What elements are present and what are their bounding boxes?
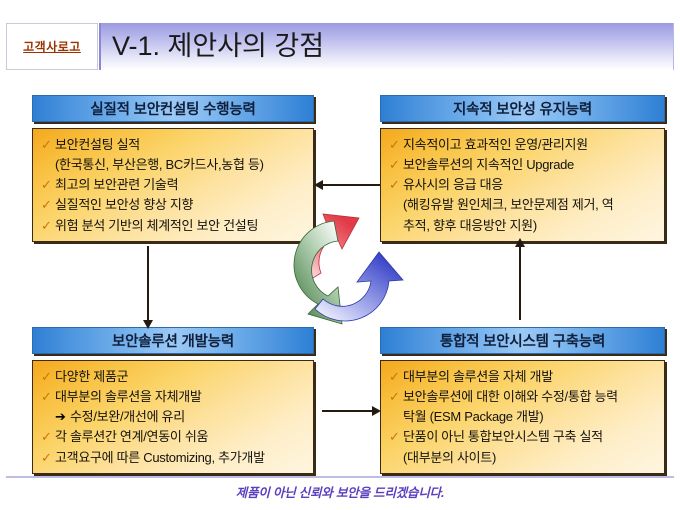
footer-divider — [6, 476, 674, 478]
connector-line — [519, 246, 521, 320]
bullet-text: 보안솔루션에 대한 이해와 수정/통합 능력 — [403, 388, 658, 405]
bullet-text: 유사시의 응급 대응 — [403, 176, 658, 193]
bullet-item-sub: ➔ 수정/보완/개선에 유리 — [41, 408, 307, 425]
arrow-right-icon: ➔ — [55, 408, 70, 425]
bullet-spacer — [41, 156, 55, 173]
bullet-text: (해킹유발 원인체크, 보안문제점 제거, 역 — [403, 196, 658, 213]
bullet-text: 수정/보완/개선에 유리 — [70, 408, 307, 425]
check-icon: ✓ — [41, 449, 55, 466]
capability-panel-bottom-left: 보안솔루션 개발능력 ✓ 다양한 제품군 ✓ 대부분의 솔루션을 자체개발 ➔ … — [32, 327, 314, 474]
bullet-item: ✓ 대부분의 솔루션을 자체개발 — [41, 388, 307, 405]
arrowhead-right-icon — [372, 406, 381, 416]
bullet-item: ✓ 보안솔루션의 지속적인 Upgrade — [389, 156, 658, 173]
bullet-text: 지속적이고 효과적인 운영/관리지원 — [403, 136, 658, 153]
arrowhead-left-icon — [314, 180, 323, 190]
check-icon: ✓ — [389, 388, 403, 405]
bullet-spacer — [389, 408, 403, 425]
bullet-text: 단품이 아닌 통합보안시스템 구축 실적 — [403, 428, 658, 445]
check-icon: ✓ — [41, 196, 55, 213]
bullet-item: ✓ 실질적인 보안성 향상 지향 — [41, 196, 307, 213]
title-plate: V-1. 제안사의 강점 — [99, 23, 674, 70]
panel-title: 보안솔루션 개발능력 — [112, 330, 234, 351]
bullet-text: 추적, 향후 대응방안 지원) — [403, 217, 658, 234]
bullet-item: ✓ 각 솔루션간 연계/연동이 쉬움 — [41, 428, 307, 445]
panel-header-top-right: 지속적 보안성 유지능력 — [380, 95, 665, 122]
footer-tagline: 제품이 아닌 신뢰와 보안을 드리겠습니다. — [0, 482, 680, 501]
check-icon: ✓ — [389, 368, 403, 385]
connector-line — [147, 246, 149, 320]
bullet-item: ✓ 보안컨설팅 실적 — [41, 136, 307, 153]
capability-panel-bottom-right: 통합적 보안시스템 구축능력 ✓ 대부분의 솔루션을 자체 개발 ✓ 보안솔루션… — [380, 327, 665, 474]
bullet-item: (해킹유발 원인체크, 보안문제점 제거, 역 — [389, 196, 658, 213]
bullet-item: ✓ 지속적이고 효과적인 운영/관리지원 — [389, 136, 658, 153]
check-icon: ✓ — [389, 156, 403, 173]
bullet-item: (대부분의 사이트) — [389, 449, 658, 466]
check-icon: ✓ — [41, 388, 55, 405]
bullet-text: 대부분의 솔루션을 자체 개발 — [403, 368, 658, 385]
bullet-item: ✓ 최고의 보안관련 기술력 — [41, 176, 307, 193]
bullet-text: 각 솔루션간 연계/연동이 쉬움 — [55, 428, 307, 445]
bullet-item: ✓ 단품이 아닌 통합보안시스템 구축 실적 — [389, 428, 658, 445]
check-icon: ✓ — [41, 428, 55, 445]
client-logo-placeholder: 고객사로고 — [6, 23, 98, 70]
connector-line — [322, 410, 372, 412]
bullet-text: 보안솔루션의 지속적인 Upgrade — [403, 156, 658, 173]
bullet-text: 다양한 제품군 — [55, 368, 307, 385]
check-icon: ✓ — [41, 217, 55, 234]
page-title: V-1. 제안사의 강점 — [101, 33, 324, 60]
client-logo-text: 고객사로고 — [23, 38, 81, 55]
check-icon: ✓ — [389, 136, 403, 153]
panel-title: 지속적 보안성 유지능력 — [453, 98, 592, 119]
arrowhead-down-icon — [143, 320, 153, 329]
check-icon: ✓ — [389, 176, 403, 193]
panel-title: 실질적 보안컨설팅 수행능력 — [90, 98, 255, 119]
bullet-text: 실질적인 보안성 향상 지향 — [55, 196, 307, 213]
bullet-item: (한국통신, 부산은행, BC카드사,농협 등) — [41, 156, 307, 173]
bullet-text: 고객요구에 따른 Customizing, 추가개발 — [55, 449, 307, 466]
check-icon: ✓ — [41, 368, 55, 385]
capability-panel-top-right: 지속적 보안성 유지능력 ✓ 지속적이고 효과적인 운영/관리지원 ✓ 보안솔루… — [380, 95, 665, 242]
panel-title: 통합적 보안시스템 구축능력 — [440, 330, 605, 351]
synergy-cycle-diagram — [272, 197, 412, 337]
cycle-arrow-blue — [315, 252, 403, 321]
bullet-item: ✓ 유사시의 응급 대응 — [389, 176, 658, 193]
bullet-text: (대부분의 사이트) — [403, 449, 658, 466]
bullet-item: ✓ 보안솔루션에 대한 이해와 수정/통합 능력 — [389, 388, 658, 405]
slide-title-bar: 고객사로고 V-1. 제안사의 강점 — [0, 23, 680, 70]
bullet-item: 탁월 (ESM Package 개발) — [389, 408, 658, 425]
check-icon: ✓ — [41, 136, 55, 153]
bullet-text: 대부분의 솔루션을 자체개발 — [55, 388, 307, 405]
cycle-svg — [272, 197, 412, 337]
bullet-text: 최고의 보안관련 기술력 — [55, 176, 307, 193]
panel-body-bottom-right: ✓ 대부분의 솔루션을 자체 개발 ✓ 보안솔루션에 대한 이해와 수정/통합 … — [380, 360, 665, 474]
panel-header-bottom-right: 통합적 보안시스템 구축능력 — [380, 327, 665, 354]
panel-body-top-right: ✓ 지속적이고 효과적인 운영/관리지원 ✓ 보안솔루션의 지속적인 Upgra… — [380, 128, 665, 242]
connector-line — [322, 184, 380, 186]
bullet-item: ✓ 고객요구에 따른 Customizing, 추가개발 — [41, 449, 307, 466]
bullet-text: 보안컨설팅 실적 — [55, 136, 307, 153]
check-icon: ✓ — [389, 428, 403, 445]
bullet-text: 탁월 (ESM Package 개발) — [403, 408, 658, 425]
check-icon: ✓ — [41, 176, 55, 193]
bullet-item: ✓ 다양한 제품군 — [41, 368, 307, 385]
bullet-item: ✓ 대부분의 솔루션을 자체 개발 — [389, 368, 658, 385]
bullet-spacer — [389, 449, 403, 466]
arrowhead-up-icon — [515, 238, 525, 247]
bullet-item: ✓ 위험 분석 기반의 체계적인 보안 건설팅 — [41, 217, 307, 234]
panel-body-bottom-left: ✓ 다양한 제품군 ✓ 대부분의 솔루션을 자체개발 ➔ 수정/보완/개선에 유… — [32, 360, 314, 474]
bullet-text: (한국통신, 부산은행, BC카드사,농협 등) — [55, 156, 307, 173]
bullet-item: 추적, 향후 대응방안 지원) — [389, 217, 658, 234]
bullet-text: 위험 분석 기반의 체계적인 보안 건설팅 — [55, 217, 307, 234]
panel-header-top-left: 실질적 보안컨설팅 수행능력 — [32, 95, 314, 122]
